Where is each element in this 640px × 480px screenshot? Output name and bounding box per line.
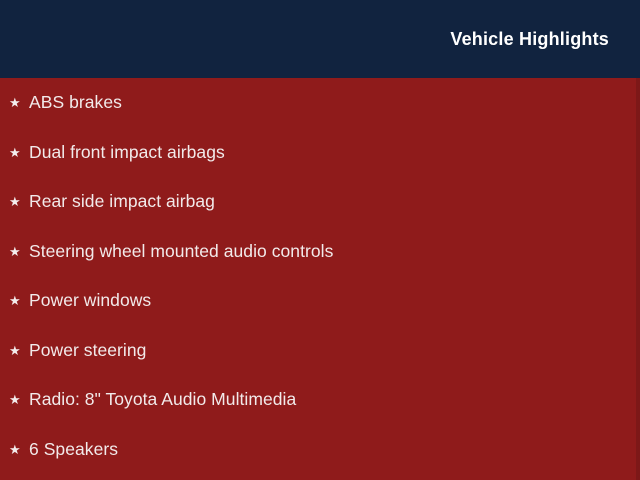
list-item: ★ABS brakes (0, 78, 640, 128)
highlights-list: ★ABS brakes★Dual front impact airbags★Re… (0, 78, 640, 474)
page-title: Vehicle Highlights (450, 30, 609, 48)
list-item: ★Steering wheel mounted audio controls (0, 227, 640, 277)
star-bullet-icon: ★ (9, 195, 22, 208)
highlights-panel: ★ABS brakes★Dual front impact airbags★Re… (0, 78, 640, 480)
highlight-label: ABS brakes (22, 94, 122, 112)
star-bullet-icon: ★ (9, 146, 22, 159)
star-bullet-icon: ★ (9, 443, 22, 456)
highlight-label: Power steering (22, 342, 146, 360)
list-item: ★Radio: 8" Toyota Audio Multimedia (0, 375, 640, 425)
highlight-label: Radio: 8" Toyota Audio Multimedia (22, 391, 296, 409)
star-bullet-icon: ★ (9, 344, 22, 357)
highlight-label: 6 Speakers (22, 441, 118, 459)
panel-right-edge (636, 78, 640, 480)
list-item: ★Rear side impact airbag (0, 177, 640, 227)
highlight-label: Power windows (22, 292, 151, 310)
highlight-label: Dual front impact airbags (22, 144, 225, 162)
list-item: ★Power steering (0, 326, 640, 376)
header-bar: Vehicle Highlights (0, 0, 640, 78)
list-item: ★6 Speakers (0, 425, 640, 475)
star-bullet-icon: ★ (9, 245, 22, 258)
highlight-label: Steering wheel mounted audio controls (22, 243, 333, 261)
list-item: ★Dual front impact airbags (0, 128, 640, 178)
highlight-label: Rear side impact airbag (22, 193, 215, 211)
vehicle-highlights-screen: Vehicle Highlights ★ABS brakes★Dual fron… (0, 0, 640, 480)
list-item: ★Power windows (0, 276, 640, 326)
star-bullet-icon: ★ (9, 393, 22, 406)
star-bullet-icon: ★ (9, 96, 22, 109)
star-bullet-icon: ★ (9, 294, 22, 307)
